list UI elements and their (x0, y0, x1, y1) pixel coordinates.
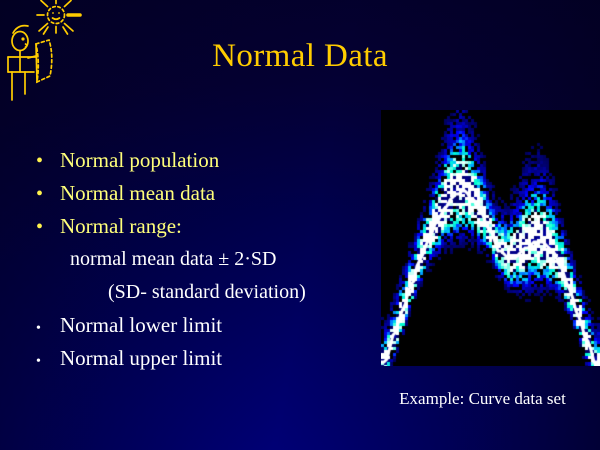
list-item-sub: (SD- standard deviation) (30, 276, 380, 309)
list-item-label: normal mean data ± 2·SD (70, 243, 276, 276)
list-item-sub: normal mean data ± 2·SD (30, 243, 380, 276)
bullet-marker-icon: • (30, 145, 60, 178)
curve-data-heatmap (381, 110, 600, 366)
list-item: • Normal population (30, 144, 380, 177)
list-item-label: (SD- standard deviation) (108, 276, 306, 309)
bullet-list: • Normal population • Normal mean data •… (30, 144, 380, 375)
list-item: • Normal upper limit (30, 342, 380, 375)
bullet-marker-icon: • (30, 211, 60, 244)
list-item: • Normal mean data (30, 177, 380, 210)
list-item-label: Normal lower limit (60, 309, 222, 342)
list-item-label: Normal mean data (60, 177, 215, 210)
list-item-label: Normal population (60, 144, 219, 177)
bullet-marker-icon: • (30, 345, 60, 378)
bullet-marker-icon: • (30, 312, 60, 345)
bullet-marker-icon: • (30, 178, 60, 211)
slide: Normal Data • Normal population • Normal… (0, 0, 600, 450)
list-item-label: Normal range: (60, 210, 182, 243)
list-item: • Normal range: (30, 210, 380, 243)
list-item: • Normal lower limit (30, 309, 380, 342)
curve-data-heatmap-panel (381, 110, 600, 366)
page-title: Normal Data (0, 36, 600, 76)
figure-caption: Example: Curve data set (370, 388, 595, 410)
list-item-label: Normal upper limit (60, 342, 222, 375)
